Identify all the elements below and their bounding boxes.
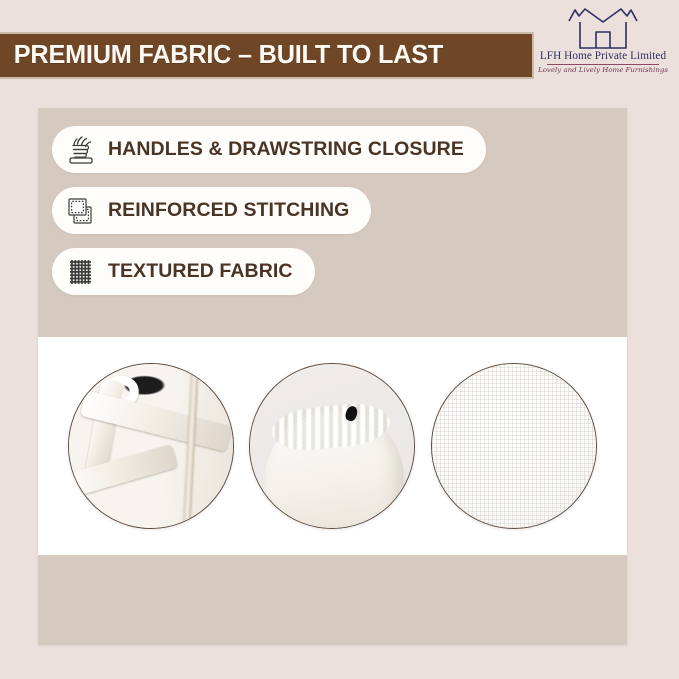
hand-holding-handle-icon — [64, 133, 98, 167]
product-photo-band — [38, 337, 627, 555]
logo-tagline: Lovely and Lively Home Furnishings — [538, 66, 668, 73]
feature-pill-handles-drawstring: HANDLES & DRAWSTRING CLOSURE — [52, 126, 486, 173]
product-photo-handles-and-straps-closeup — [68, 363, 234, 529]
content-card: HANDLES & DRAWSTRING CLOSURE REINFORCED … — [38, 108, 627, 645]
woven-mesh-icon — [64, 255, 98, 289]
product-photo-textured-fabric-swatch-closeup — [431, 363, 597, 529]
feature-label: TEXTURED FABRIC — [108, 260, 293, 283]
feature-pill-textured-fabric: TEXTURED FABRIC — [52, 248, 315, 295]
house-outline-logo-icon — [566, 5, 640, 49]
page-title: PREMIUM FABRIC – BUILT TO LAST — [0, 41, 443, 70]
feature-label: HANDLES & DRAWSTRING CLOSURE — [108, 138, 464, 161]
header-banner: PREMIUM FABRIC – BUILT TO LAST — [0, 32, 534, 79]
brand-logo: LFH Home Private Limited Lovely and Live… — [539, 5, 667, 85]
stitched-squares-icon — [64, 194, 98, 228]
feature-label: REINFORCED STITCHING — [108, 199, 349, 222]
logo-company-name: LFH Home Private Limited — [540, 50, 666, 62]
infographic-page: PREMIUM FABRIC – BUILT TO LAST LFH Home … — [0, 0, 679, 679]
logo-divider — [547, 64, 659, 65]
product-photo-drawstring-closure-closeup — [249, 363, 415, 529]
feature-pill-reinforced-stitching: REINFORCED STITCHING — [52, 187, 371, 234]
feature-pill-list: HANDLES & DRAWSTRING CLOSURE REINFORCED … — [52, 126, 486, 295]
